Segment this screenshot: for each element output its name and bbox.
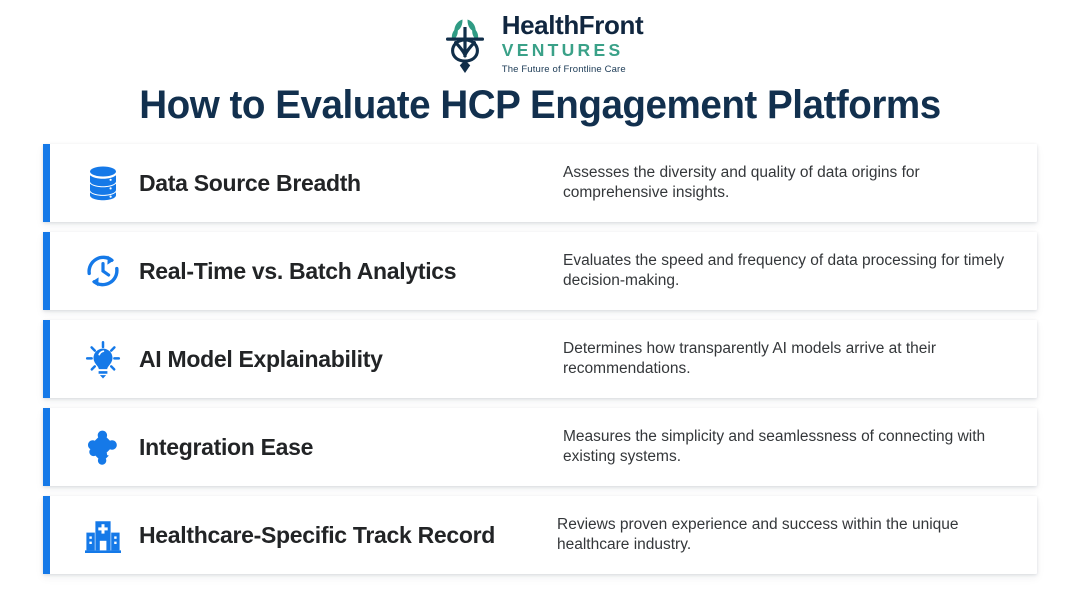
list-item: Integration Ease Measures the simplicity… bbox=[43, 408, 1037, 486]
accent-bar bbox=[43, 496, 50, 574]
brand-name: HealthFront bbox=[502, 12, 643, 39]
brand-logo-lockup: HealthFront VENTURES The Future of Front… bbox=[0, 0, 1080, 72]
puzzle-piece-icon bbox=[73, 426, 133, 468]
list-item-title: Real-Time vs. Batch Analytics bbox=[139, 258, 543, 285]
page-title: How to Evaluate HCP Engagement Platforms bbox=[19, 83, 1061, 127]
list-item-title: AI Model Explainability bbox=[139, 346, 543, 373]
hospital-building-icon bbox=[73, 514, 133, 556]
list-item: AI Model Explainability Determines how t… bbox=[43, 320, 1037, 398]
healthfront-caduceus-plant-logo-icon bbox=[437, 13, 493, 75]
database-icon bbox=[73, 162, 133, 204]
list-item: Real-Time vs. Batch Analytics Evaluates … bbox=[43, 232, 1037, 310]
list-item-description: Determines how transparently AI models a… bbox=[543, 339, 1037, 380]
list-item: Data Source Breadth Assesses the diversi… bbox=[43, 144, 1037, 222]
brand-subname: VENTURES bbox=[502, 40, 624, 62]
clock-refresh-icon bbox=[73, 250, 133, 292]
list-item-description: Measures the simplicity and seamlessness… bbox=[543, 427, 1037, 468]
accent-bar bbox=[43, 232, 50, 310]
list-item-description: Evaluates the speed and frequency of dat… bbox=[543, 251, 1037, 292]
list-item-title: Healthcare-Specific Track Record bbox=[139, 522, 543, 549]
list-item-title: Integration Ease bbox=[139, 434, 543, 461]
accent-bar bbox=[43, 320, 50, 398]
accent-bar bbox=[43, 408, 50, 486]
list-item: Healthcare-Specific Track Record Reviews… bbox=[43, 496, 1037, 574]
list-item-description: Assesses the diversity and quality of da… bbox=[543, 163, 1037, 204]
brand-text: HealthFront VENTURES The Future of Front… bbox=[502, 12, 643, 75]
brand-tagline: The Future of Frontline Care bbox=[502, 65, 626, 75]
list-item-title: Data Source Breadth bbox=[139, 170, 543, 197]
list-item-description: Reviews proven experience and success wi… bbox=[543, 515, 1037, 556]
accent-bar bbox=[43, 144, 50, 222]
lightbulb-idea-icon bbox=[73, 338, 133, 380]
criteria-card-list: Data Source Breadth Assesses the diversi… bbox=[0, 144, 1080, 574]
